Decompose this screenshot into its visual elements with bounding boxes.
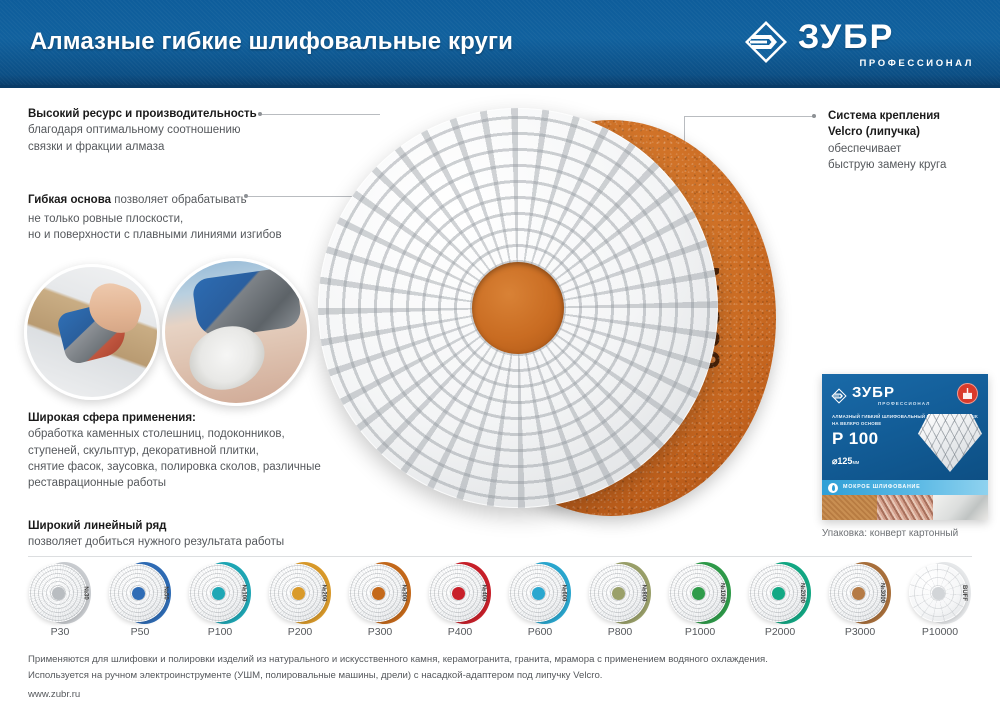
footer-website: www.zubr.ru: [28, 687, 968, 703]
lineup-disc-grit-mark: №200: [321, 585, 327, 602]
lineup-divider: [28, 556, 972, 557]
lineup-disc-label: P600: [500, 626, 580, 638]
package-caption: Упаковка: конверт картонный: [790, 528, 990, 539]
callout-velcro-title2: Velcro (липучка): [828, 124, 994, 140]
callout-velcro-title1: Система крепления: [828, 108, 994, 124]
package-brand-subtitle: ПРОФЕССИОНАЛ: [878, 401, 930, 406]
lineup-item-p3000[interactable]: №3000P3000: [820, 560, 900, 640]
lineup-subtitle: позволяет добиться нужного результата ра…: [28, 534, 328, 550]
lineup-disc-label: P50: [100, 626, 180, 638]
callout-scope-line3: снятие фасок, заусовка, полировка сколов…: [28, 459, 328, 475]
material-photo-marble: [933, 495, 988, 520]
lineup-item-p100[interactable]: №100P100: [180, 560, 260, 640]
infographic-page: Алмазные гибкие шлифовальные круги ЗУБР …: [0, 0, 1000, 706]
material-photo-granite: [877, 495, 932, 520]
lineup-disc-label: P400: [420, 626, 500, 638]
lineup-disc-grit-mark: №30: [82, 586, 88, 599]
lineup-disc: №3000: [829, 562, 891, 624]
lineup-disc: BUFF: [909, 562, 971, 624]
package-desc-line1: АЛМАЗНЫЙ ГИБКИЙ ШЛИФОВАЛЬНЫЙ КРУГ: [832, 414, 938, 419]
lineup-disc: №30: [29, 562, 91, 624]
lineup-disc: №600: [509, 562, 571, 624]
lineup-disc: №50: [109, 562, 171, 624]
lineup-disc-grit-mark: BUFF: [961, 585, 967, 601]
lineup-disc-face: [429, 564, 487, 622]
lineup-disc: №2000: [749, 562, 811, 624]
lineup-disc-face: [29, 564, 87, 622]
lineup-disc-label: P30: [20, 626, 100, 638]
callout-high-resource: Высокий ресурс и производительность благ…: [28, 106, 278, 155]
callout-scope-line1: обработка каменных столешниц, подоконник…: [28, 426, 328, 442]
lineup-disc-hole: [212, 587, 225, 600]
lineup-disc-grit-mark: №50: [162, 586, 168, 599]
package-material-photos: [822, 495, 988, 520]
lineup-disc-label: P2000: [740, 626, 820, 638]
leader-dot-velcro: [812, 114, 816, 118]
callout-resource-line1: благодаря оптимальному соотношению: [28, 122, 278, 138]
photo-grinder-tile: [162, 258, 310, 406]
lineup-disc-label: P10000: [900, 626, 980, 638]
photo-grinder-countertop: [24, 264, 160, 400]
lineup-disc-grit-mark: №3000: [879, 583, 885, 603]
lineup-item-p50[interactable]: №50P50: [100, 560, 180, 640]
lineup-disc: №300: [349, 562, 411, 624]
callout-product-lineup: Широкий линейный ряд позволяет добиться …: [28, 518, 328, 551]
callout-flex-title: Гибкая основа: [28, 194, 111, 206]
callout-application-scope: Широкая сфера применения: обработка каме…: [28, 410, 328, 492]
package-diameter-unit: мм: [852, 460, 859, 466]
callout-scope-title: Широкая сфера применения:: [28, 410, 328, 426]
lineup-disc-face: [909, 564, 967, 622]
lineup-disc-label: P100: [180, 626, 260, 638]
footer-notes: Применяются для шлифовки и полировки изд…: [28, 652, 968, 702]
lineup-disc-grit-mark: №600: [561, 585, 567, 602]
lineup-item-p30[interactable]: №30P30: [20, 560, 100, 640]
package-diameter-value: ⌀125: [832, 456, 852, 466]
package-diamond-graphic: [918, 414, 982, 472]
callout-velcro-system: Система крепления Velcro (липучка) обесп…: [828, 108, 994, 173]
lineup-disc-face: [589, 564, 647, 622]
package-band-text: МОКРОЕ ШЛИФОВАНИЕ: [843, 484, 920, 490]
callout-resource-title: Высокий ресурс и производительность: [28, 106, 278, 122]
lineup-disc-hole: [612, 587, 625, 600]
lineup-disc: №800: [589, 562, 651, 624]
footer-line2: Используется на ручном электроинструмент…: [28, 668, 968, 684]
lineup-disc: №1000: [669, 562, 731, 624]
page-title: Алмазные гибкие шлифовальные круги: [30, 28, 513, 56]
lineup-disc-label: P200: [260, 626, 340, 638]
lineup-disc-hole: [532, 587, 545, 600]
lineup-disc-hole: [692, 587, 705, 600]
material-photo-sandstone: [822, 495, 877, 520]
brand-name: ЗУБР: [798, 18, 894, 57]
lineup-disc-grit-mark: №2000: [799, 583, 805, 603]
package-diameter: ⌀125мм: [832, 456, 859, 467]
lineup-disc-hole: [132, 587, 145, 600]
package-front-panel: ЗУБР ПРОФЕССИОНАЛ АЛМАЗНЫЙ ГИБКИЙ ШЛИФОВ…: [822, 374, 988, 480]
lineup-disc-grit-mark: №300: [401, 585, 407, 602]
package-zubr-diamond-icon: [831, 388, 847, 404]
lineup-title: Широкий линейный ряд: [28, 518, 328, 534]
lineup-disc: №200: [269, 562, 331, 624]
footer-line1: Применяются для шлифовки и полировки изд…: [28, 652, 968, 668]
diamond-pad-face: [318, 108, 718, 508]
lineup-disc-face: [269, 564, 327, 622]
lineup-disc-face: [349, 564, 407, 622]
application-photos: [22, 258, 312, 406]
callout-flex-title-rest: позволяет обрабатывать: [111, 194, 247, 206]
water-drop-icon: [828, 483, 838, 493]
lineup-disc-grit-mark: №400: [481, 585, 487, 602]
lineup-item-p800[interactable]: №800P800: [580, 560, 660, 640]
lineup-disc-hole: [852, 587, 865, 600]
callout-resource-line2: связки и фракции алмаза: [28, 139, 278, 155]
lineup-disc-face: [509, 564, 567, 622]
lineup-item-p10000[interactable]: BUFFP10000: [900, 560, 980, 640]
pad-center-hole: [472, 262, 564, 354]
lineup-disc-row: №30P30№50P50№100P100№200P200№300P300№400…: [20, 560, 980, 640]
lineup-disc-hole: [52, 587, 65, 600]
lineup-disc-label: P1000: [660, 626, 740, 638]
lineup-item-p1000[interactable]: №1000P1000: [660, 560, 740, 640]
lineup-disc-grit-mark: №1000: [719, 583, 725, 603]
lineup-disc-face: [109, 564, 167, 622]
brand-subtitle: ПРОФЕССИОНАЛ: [859, 58, 974, 69]
callout-scope-line4: реставрационные работы: [28, 475, 328, 491]
lineup-item-p400[interactable]: №400P400: [420, 560, 500, 640]
lineup-disc-label: P800: [580, 626, 660, 638]
lineup-disc-hole: [452, 587, 465, 600]
lineup-disc-label: P300: [340, 626, 420, 638]
lineup-disc-hole: [932, 587, 945, 600]
package-wet-grinding-band: МОКРОЕ ШЛИФОВАНИЕ: [822, 480, 988, 495]
lineup-disc: №400: [429, 562, 491, 624]
lineup-item-p600[interactable]: №600P600: [500, 560, 580, 640]
lineup-disc-label: P3000: [820, 626, 900, 638]
lineup-disc-grit-mark: №100: [241, 585, 247, 602]
package-grit: P 100: [832, 429, 879, 449]
page-header: Алмазные гибкие шлифовальные круги ЗУБР …: [0, 0, 1000, 88]
lineup-disc: №100: [189, 562, 251, 624]
lineup-item-p300[interactable]: №300P300: [340, 560, 420, 640]
callout-flex-line1: не только ровные плоскости,: [28, 211, 290, 227]
callout-scope-line2: ступеней, скульптур, декоративной плитки…: [28, 443, 328, 459]
main-product-illustration: №300: [318, 108, 778, 528]
quality-seal-icon: [957, 383, 978, 404]
package-brand-name: ЗУБР: [852, 384, 895, 401]
zubr-diamond-icon: [744, 20, 788, 64]
callout-flexible-base: Гибкая основа позволяет обрабатывать не …: [28, 188, 290, 243]
lineup-disc-face: [189, 564, 247, 622]
lineup-item-p2000[interactable]: №2000P2000: [740, 560, 820, 640]
lineup-disc-hole: [772, 587, 785, 600]
lineup-item-p200[interactable]: №200P200: [260, 560, 340, 640]
lineup-disc-hole: [292, 587, 305, 600]
lineup-disc-grit-mark: №800: [641, 585, 647, 602]
brand-logo: ЗУБР ПРОФЕССИОНАЛ: [744, 18, 976, 74]
product-package: ЗУБР ПРОФЕССИОНАЛ АЛМАЗНЫЙ ГИБКИЙ ШЛИФОВ…: [822, 374, 988, 520]
callout-velcro-line1: обеспечивает: [828, 141, 994, 157]
callout-flex-line2: но и поверхности с плавными линиями изги…: [28, 227, 290, 243]
package-desc-line2: НА ВЕЛКРО ОСНОВЕ: [832, 421, 881, 426]
lineup-disc-hole: [372, 587, 385, 600]
callout-velcro-line2: быструю замену круга: [828, 157, 994, 173]
